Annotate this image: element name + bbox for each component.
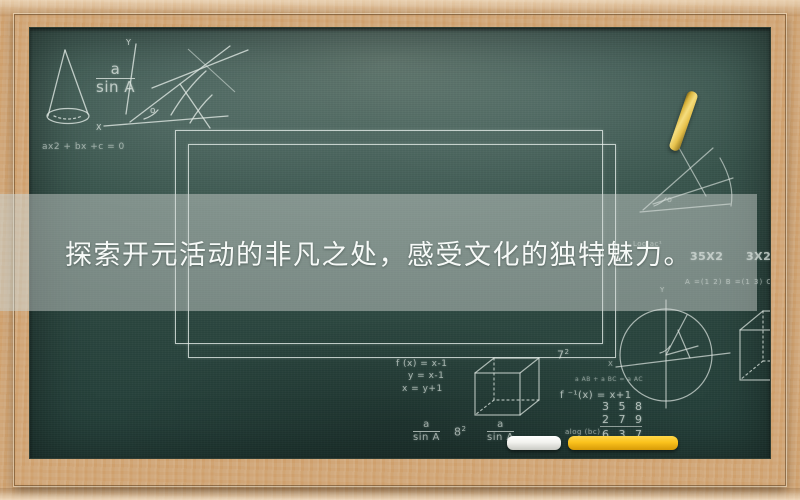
frame-bottom-ledge (0, 488, 800, 500)
yellow-chalk-stick (568, 436, 678, 450)
headline-text: 探索开元活动的非凡之处，感受文化的独特魅力。 (0, 194, 757, 311)
blackboard-banner: Y X o a sin A ax2 + bx +c = 0 f (x) = x-… (0, 0, 800, 500)
white-chalk-stick (507, 436, 561, 450)
